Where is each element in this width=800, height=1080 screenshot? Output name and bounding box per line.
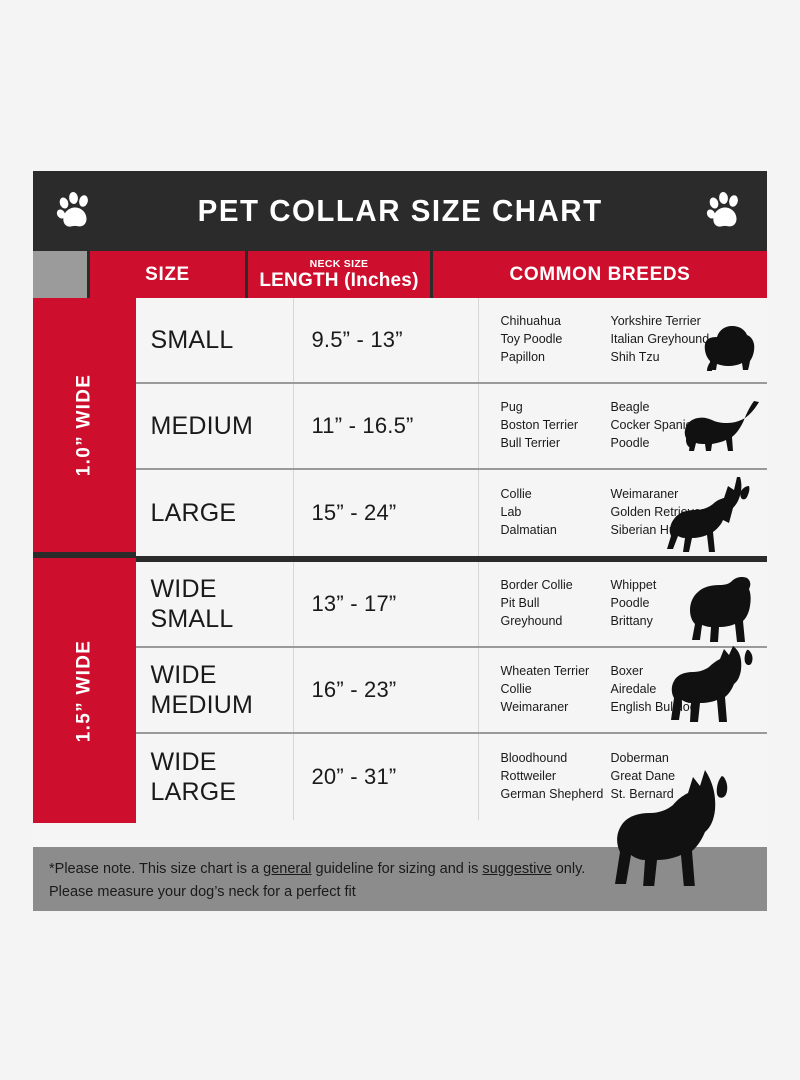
- size-label-line1: WIDE: [151, 660, 254, 691]
- width-rail-column: 1.0” WIDE 1.5” WIDE: [33, 298, 136, 823]
- breed-name: Boxer: [611, 663, 697, 681]
- footer-text: guideline for sizing and is: [312, 861, 483, 877]
- breeds-column-left: Collie Lab Dalmatian: [501, 486, 611, 539]
- breeds-column-left: Bloodhound Rottweiler German Shepherd: [501, 750, 611, 803]
- breed-name: Chihuahua: [501, 313, 611, 331]
- footer-line-1: *Please note. This size chart is a gener…: [49, 858, 751, 881]
- group-label-text: 1.0” WIDE: [73, 374, 95, 477]
- length-value: 16” - 23”: [312, 677, 397, 703]
- breeds-column-left: Pug Boston Terrier Bull Terrier: [501, 399, 611, 452]
- cell-breeds: Wheaten Terrier Collie Weimaraner Boxer …: [479, 648, 768, 732]
- breed-name: Italian Greyhound: [611, 331, 710, 349]
- breed-name: Bull Terrier: [501, 435, 611, 453]
- breed-name: Weimaraner: [611, 486, 706, 504]
- breed-name: Golden Retriever: [611, 504, 706, 522]
- length-value: 11” - 16.5”: [312, 413, 414, 439]
- cell-breeds: Pug Boston Terrier Bull Terrier Beagle C…: [479, 384, 768, 468]
- header-size: SIZE: [90, 251, 248, 298]
- breed-name: Papillon: [501, 349, 611, 367]
- size-label-line2: LARGE: [151, 777, 237, 808]
- breed-name: Rottweiler: [501, 768, 611, 786]
- cell-breeds: Collie Lab Dalmatian Weimaraner Golden R…: [479, 470, 768, 556]
- table-row: WIDE LARGE 20” - 31” Bloodhound Rottweil…: [136, 734, 768, 820]
- size-label: LARGE: [151, 499, 237, 528]
- breeds-column-right: Doberman Great Dane St. Bernard: [611, 750, 676, 803]
- footer-text: only.: [552, 861, 586, 877]
- table-header-row: SIZE NECK SIZE LENGTH (Inches) COMMON BR…: [33, 251, 767, 298]
- cell-breeds: Chihuahua Toy Poodle Papillon Yorkshire …: [479, 298, 768, 382]
- breed-name: Border Collie: [501, 577, 611, 595]
- footer-note: *Please note. This size chart is a gener…: [33, 847, 767, 911]
- table-row: SMALL 9.5” - 13” Chihuahua Toy Poodle Pa…: [136, 298, 768, 384]
- group-label-1-5-wide: 1.5” WIDE: [33, 558, 136, 823]
- breed-name: Airedale: [611, 681, 697, 699]
- cell-size: WIDE MEDIUM: [136, 648, 294, 732]
- cell-length: 11” - 16.5”: [294, 384, 479, 468]
- header-length-label: LENGTH (Inches): [259, 271, 418, 290]
- breed-name: Cocker Spaniel: [611, 417, 696, 435]
- breeds-column-left: Wheaten Terrier Collie Weimaraner: [501, 663, 611, 716]
- cell-length: 20” - 31”: [294, 734, 479, 820]
- cell-size: SMALL: [136, 298, 294, 382]
- breeds-column-right: Weimaraner Golden Retriever Siberian Hus…: [611, 486, 706, 539]
- breed-name: Weimaraner: [501, 699, 611, 717]
- rows-column: SMALL 9.5” - 13” Chihuahua Toy Poodle Pa…: [136, 298, 768, 823]
- length-value: 15” - 24”: [312, 500, 397, 526]
- breed-name: Dalmatian: [501, 522, 611, 540]
- size-label-line2: SMALL: [151, 604, 234, 635]
- header-length: NECK SIZE LENGTH (Inches): [248, 251, 433, 298]
- length-value: 13” - 17”: [312, 591, 397, 617]
- breed-name: Poodle: [611, 595, 657, 613]
- breed-name: English Bulldog: [611, 699, 697, 717]
- footer-text: *Please note. This size chart is a: [49, 861, 263, 877]
- size-label-line2: MEDIUM: [151, 690, 254, 721]
- breed-name: Doberman: [611, 750, 676, 768]
- breed-name: Whippet: [611, 577, 657, 595]
- header-common-breeds: COMMON BREEDS: [433, 251, 767, 298]
- size-label-line1: WIDE: [151, 574, 234, 605]
- size-label: MEDIUM: [151, 412, 254, 441]
- breed-name: Collie: [501, 486, 611, 504]
- cell-breeds: Border Collie Pit Bull Greyhound Whippet…: [479, 562, 768, 646]
- breed-name: Brittany: [611, 613, 657, 631]
- table-row: WIDE SMALL 13” - 17” Border Collie Pit B…: [136, 562, 768, 648]
- chart-title-bar: PET COLLAR SIZE CHART: [33, 171, 767, 251]
- cell-size: WIDE SMALL: [136, 562, 294, 646]
- breed-name: Poodle: [611, 435, 696, 453]
- paw-print-icon: [705, 189, 745, 233]
- pet-collar-size-chart: PET COLLAR SIZE CHART SIZE NECK SIZE LEN…: [33, 171, 767, 911]
- paw-print-icon: [55, 189, 95, 233]
- breed-name: German Shepherd: [501, 786, 611, 804]
- breed-name: Yorkshire Terrier: [611, 313, 710, 331]
- cell-size: LARGE: [136, 470, 294, 556]
- screenshot-canvas: PET COLLAR SIZE CHART SIZE NECK SIZE LEN…: [0, 0, 800, 1080]
- breed-name: Wheaten Terrier: [501, 663, 611, 681]
- group-label-text: 1.5” WIDE: [73, 639, 95, 742]
- length-value: 9.5” - 13”: [312, 327, 403, 353]
- table-body: 1.0” WIDE 1.5” WIDE SMALL 9.5” - 13”: [33, 298, 767, 823]
- breeds-column-right: Beagle Cocker Spaniel Poodle: [611, 399, 696, 452]
- breed-name: Boston Terrier: [501, 417, 611, 435]
- cell-length: 9.5” - 13”: [294, 298, 479, 382]
- cell-breeds: Bloodhound Rottweiler German Shepherd Do…: [479, 734, 768, 820]
- breed-name: St. Bernard: [611, 786, 676, 804]
- breed-name: Collie: [501, 681, 611, 699]
- cell-size: MEDIUM: [136, 384, 294, 468]
- breeds-column-left: Border Collie Pit Bull Greyhound: [501, 577, 611, 630]
- breed-name: Shih Tzu: [611, 349, 710, 367]
- breed-name: Toy Poodle: [501, 331, 611, 349]
- cell-length: 13” - 17”: [294, 562, 479, 646]
- table-row: WIDE MEDIUM 16” - 23” Wheaten Terrier Co…: [136, 648, 768, 734]
- breed-name: Beagle: [611, 399, 696, 417]
- breed-name: Greyhound: [501, 613, 611, 631]
- breed-name: Lab: [501, 504, 611, 522]
- header-neck-size-label: NECK SIZE: [310, 259, 369, 270]
- breed-name: Great Dane: [611, 768, 676, 786]
- cell-length: 15” - 24”: [294, 470, 479, 556]
- table-row: LARGE 15” - 24” Collie Lab Dalmatian Wei…: [136, 470, 768, 556]
- breeds-column-left: Chihuahua Toy Poodle Papillon: [501, 313, 611, 366]
- cell-size: WIDE LARGE: [136, 734, 294, 820]
- breed-name: Pug: [501, 399, 611, 417]
- bulldog-silhouette-icon: [643, 562, 763, 646]
- footer-emphasis-general: general: [263, 861, 311, 877]
- breeds-column-right: Whippet Poodle Brittany: [611, 577, 657, 630]
- footer-line-2: Please measure your dog’s neck for a per…: [49, 881, 751, 904]
- breed-name: Siberian Husky: [611, 522, 706, 540]
- table-row: MEDIUM 11” - 16.5” Pug Boston Terrier Bu…: [136, 384, 768, 470]
- breeds-column-right: Yorkshire Terrier Italian Greyhound Shih…: [611, 313, 710, 366]
- group-label-1-0-wide: 1.0” WIDE: [33, 298, 136, 558]
- footer-emphasis-suggestive: suggestive: [482, 861, 551, 877]
- breeds-column-right: Boxer Airedale English Bulldog: [611, 663, 697, 716]
- length-value: 20” - 31”: [312, 764, 397, 790]
- breed-name: Bloodhound: [501, 750, 611, 768]
- cell-length: 16” - 23”: [294, 648, 479, 732]
- breed-name: Pit Bull: [501, 595, 611, 613]
- size-label-line1: WIDE: [151, 747, 237, 778]
- size-label: SMALL: [151, 326, 234, 355]
- header-corner-cell: [33, 251, 90, 298]
- page-title: PET COLLAR SIZE CHART: [198, 193, 603, 229]
